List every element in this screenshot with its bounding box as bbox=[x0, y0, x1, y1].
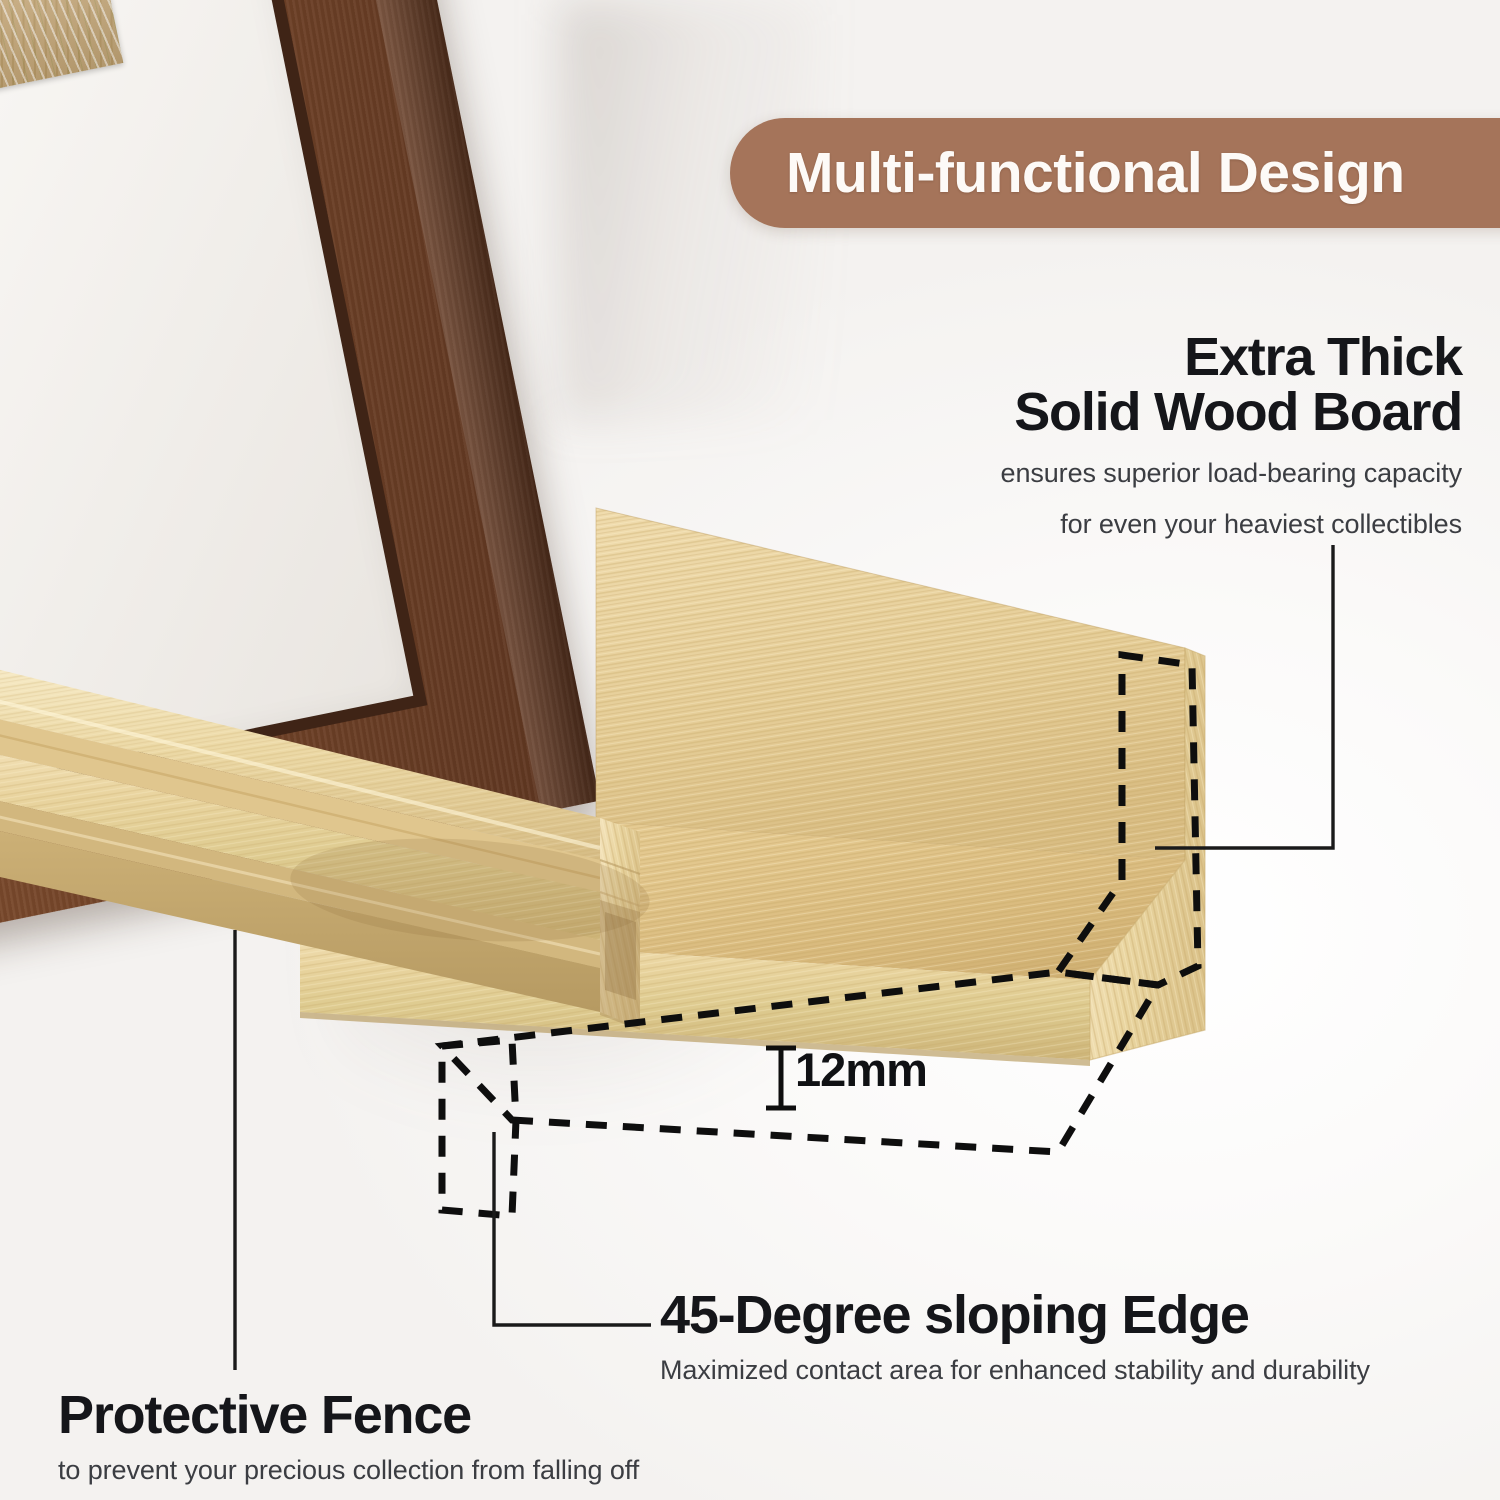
infographic-canvas: 12mm Multi-functional Design Extra Thick… bbox=[0, 0, 1500, 1500]
wood-shelf bbox=[0, 560, 1260, 1260]
callout-protective-fence: Protective Fence to prevent your preciou… bbox=[58, 1388, 639, 1488]
photo-image-grass bbox=[0, 0, 123, 175]
callout-sloping-edge-title: 45-Degree sloping Edge bbox=[660, 1288, 1370, 1343]
callout-sloping-edge: 45-Degree sloping Edge Maximized contact… bbox=[660, 1288, 1370, 1388]
callout-protective-fence-title: Protective Fence bbox=[58, 1388, 639, 1443]
callout-protective-fence-sub: to prevent your precious collection from… bbox=[58, 1453, 639, 1488]
callout-extra-thick-title-line2: Solid Wood Board bbox=[1001, 385, 1462, 440]
photo-shading bbox=[0, 0, 123, 175]
header-banner-label: Multi-functional Design bbox=[730, 140, 1405, 206]
dimension-label-12mm: 12mm bbox=[795, 1042, 927, 1097]
callout-extra-thick-title-line1: Extra Thick bbox=[1001, 330, 1462, 385]
callout-extra-thick-sub-line1: ensures superior load-bearing capacity bbox=[1001, 456, 1462, 491]
callout-extra-thick-sub-line2: for even your heaviest collectibles bbox=[1001, 507, 1462, 542]
header-banner: Multi-functional Design bbox=[730, 118, 1500, 228]
callout-extra-thick: Extra Thick Solid Wood Board ensures sup… bbox=[1001, 330, 1462, 542]
shelf-back-panel bbox=[596, 508, 1185, 860]
callout-sloping-edge-sub: Maximized contact area for enhanced stab… bbox=[660, 1353, 1370, 1388]
